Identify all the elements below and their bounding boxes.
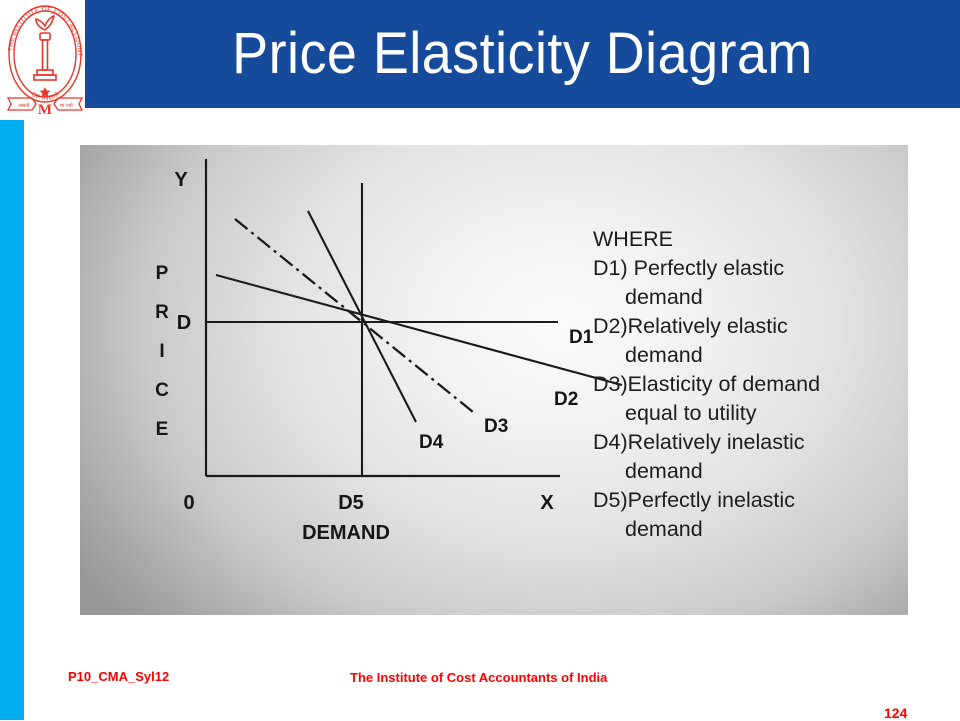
institute-logo-icon: THE INSTITUTE OF COST ACCOUNTANTS OF IND… <box>4 2 86 120</box>
y-axis-label: Y <box>174 169 188 191</box>
d5-axis-label: D5 <box>338 492 364 514</box>
curve-label-d2: D2 <box>554 389 578 410</box>
x-axis-label: X <box>540 492 554 514</box>
demand-axis-title: DEMAND <box>302 522 390 544</box>
legend-item-d3-line1: D3)Elasticity of demand <box>593 370 903 399</box>
price-label-letter-p: P <box>156 263 169 284</box>
legend-where-block: WHERE D1) Perfectly elastic demand D2)Re… <box>593 225 903 544</box>
legend-heading: WHERE <box>593 225 903 254</box>
legend-item-d1-line2: demand <box>593 283 903 312</box>
price-elasticity-diagram-image: Y X 0 D5 DEMAND P R I C E D D1 D2 D3 D4 … <box>80 145 908 615</box>
title-band: Price Elasticity Diagram <box>85 0 960 108</box>
legend-item-d1-line1: D1) Perfectly elastic <box>593 254 903 283</box>
left-accent-strip <box>0 120 24 720</box>
curve-d3-unitary-elasticity <box>235 219 473 412</box>
price-label-letter-r: R <box>155 302 169 323</box>
page-title: Price Elasticity Diagram <box>116 0 930 108</box>
svg-text:M: M <box>38 102 52 118</box>
curve-label-d4: D4 <box>419 432 444 453</box>
origin-label: 0 <box>183 492 194 514</box>
legend-item-d4-line2: demand <box>593 457 903 486</box>
price-label-letter-i: I <box>159 341 164 362</box>
footer-page-number: 124 <box>884 705 907 721</box>
svg-text:असतो: असतो <box>18 102 30 109</box>
curve-label-d1: D1 <box>569 327 594 348</box>
legend-item-d4-line1: D4)Relatively inelastic <box>593 428 903 457</box>
curve-label-d3: D3 <box>484 416 508 437</box>
legend-item-d5-line2: demand <box>593 515 903 544</box>
footer-subject-code: P10_CMA_Syl12 <box>68 669 169 684</box>
institute-logo: THE INSTITUTE OF COST ACCOUNTANTS OF IND… <box>4 2 86 120</box>
legend-item-d2-line2: demand <box>593 341 903 370</box>
legend-item-d5-line1: D5)Perfectly inelastic <box>593 486 903 515</box>
price-label-letter-e: E <box>156 419 169 440</box>
legend-item-d2-line1: D2)Relatively elastic <box>593 312 903 341</box>
legend-item-d3-line2: equal to utility <box>593 399 903 428</box>
footer-institute-name: The Institute of Cost Accountants of Ind… <box>350 670 607 685</box>
svg-text:मा ज्यो: मा ज्यो <box>60 102 73 109</box>
price-label-letter-c: C <box>155 380 169 401</box>
price-level-label-d: D <box>177 312 191 334</box>
